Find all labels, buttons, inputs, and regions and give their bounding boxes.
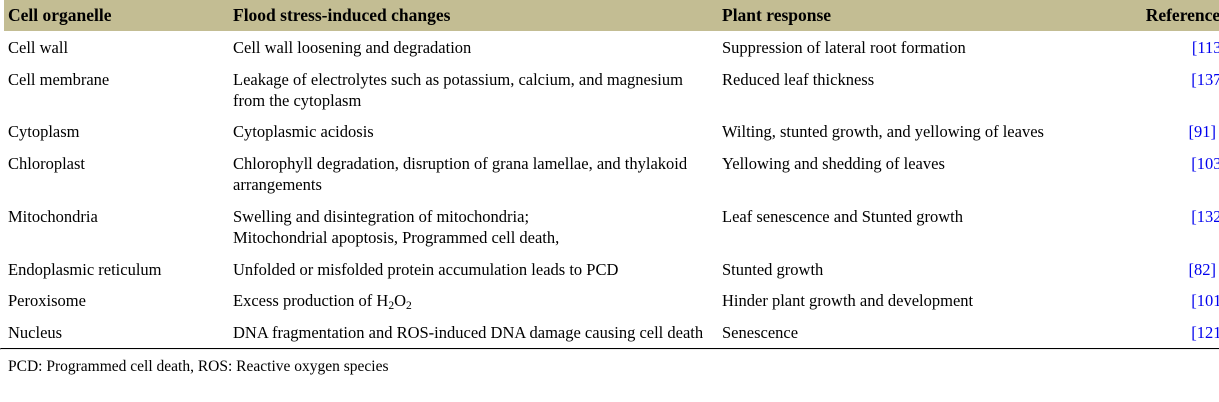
cell-organelle: Nucleus xyxy=(0,317,233,348)
cell-reference[interactable]: [113] xyxy=(1107,31,1219,63)
cell-organelle: Cytoplasm xyxy=(0,116,233,147)
cell-organelle-flood-stress-table: Cell organelle Flood stress-induced chan… xyxy=(0,0,1219,348)
cell-organelle: Chloroplast xyxy=(0,148,233,201)
table-footnote: PCD: Programmed cell death, ROS: Reactiv… xyxy=(0,350,1219,380)
column-header-cell-organelle: Cell organelle xyxy=(0,0,233,31)
cell-organelle: Peroxisome xyxy=(0,285,233,316)
cell-changes: Swelling and disintegration of mitochond… xyxy=(233,201,722,254)
cell-reference[interactable]: [121] xyxy=(1107,317,1219,348)
table-row: Endoplasmic reticulum Unfolded or misfol… xyxy=(0,254,1219,285)
cell-organelle: Mitochondria xyxy=(0,201,233,254)
cell-reference[interactable]: [103] xyxy=(1107,148,1219,201)
cell-reference[interactable]: [101] xyxy=(1107,285,1219,316)
cell-reference[interactable]: [132] xyxy=(1107,201,1219,254)
cell-changes: Cell wall loosening and degradation xyxy=(233,31,722,63)
cell-reference[interactable]: [82] xyxy=(1107,254,1219,285)
cell-response: Suppression of lateral root formation xyxy=(722,31,1107,63)
cell-response: Stunted growth xyxy=(722,254,1107,285)
changes-line-2: Mitochondrial apoptosis, Programmed cell… xyxy=(233,228,559,247)
formula-prefix: Excess production of H xyxy=(233,291,388,310)
changes-line-1: Swelling and disintegration of mitochond… xyxy=(233,207,529,226)
column-header-plant-response: Plant response xyxy=(722,0,1107,31)
cell-organelle: Cell membrane xyxy=(0,64,233,117)
cell-response: Reduced leaf thickness xyxy=(722,64,1107,117)
table-row: Nucleus DNA fragmentation and ROS-induce… xyxy=(0,317,1219,348)
table-row: Cell wall Cell wall loosening and degrad… xyxy=(0,31,1219,63)
cell-response: Yellowing and shedding of leaves xyxy=(722,148,1107,201)
cell-reference[interactable]: [137] xyxy=(1107,64,1219,117)
cell-changes: Unfolded or misfolded protein accumulati… xyxy=(233,254,722,285)
table-row: Cytoplasm Cytoplasmic acidosis Wilting, … xyxy=(0,116,1219,147)
table-header-row: Cell organelle Flood stress-induced chan… xyxy=(0,0,1219,31)
cell-changes: Cytoplasmic acidosis xyxy=(233,116,722,147)
cell-organelle: Endoplasmic reticulum xyxy=(0,254,233,285)
cell-reference[interactable]: [91] xyxy=(1107,116,1219,147)
cell-response: Wilting, stunted growth, and yellowing o… xyxy=(722,116,1107,147)
cell-response: Leaf senescence and Stunted growth xyxy=(722,201,1107,254)
cell-changes: Leakage of electrolytes such as potassiu… xyxy=(233,64,722,117)
cell-changes: DNA fragmentation and ROS-induced DNA da… xyxy=(233,317,722,348)
table-row: Chloroplast Chlorophyll degradation, dis… xyxy=(0,148,1219,201)
formula-mid: O xyxy=(394,291,406,310)
table-header: Cell organelle Flood stress-induced chan… xyxy=(0,0,1219,31)
header-left-notch xyxy=(0,0,4,31)
cell-changes: Excess production of H2O2 xyxy=(233,285,722,316)
cell-changes: Chlorophyll degradation, disruption of g… xyxy=(233,148,722,201)
cell-organelle: Cell wall xyxy=(0,31,233,63)
cell-response: Hinder plant growth and development xyxy=(722,285,1107,316)
table-container: Cell organelle Flood stress-induced chan… xyxy=(0,0,1219,402)
column-header-flood-stress-induced-changes: Flood stress-induced changes xyxy=(233,0,722,31)
table-body: Cell wall Cell wall loosening and degrad… xyxy=(0,31,1219,348)
table-row: Peroxisome Excess production of H2O2 Hin… xyxy=(0,285,1219,316)
table-row: Cell membrane Leakage of electrolytes su… xyxy=(0,64,1219,117)
column-header-references: References xyxy=(1107,0,1219,31)
formula-subscript-2: 2 xyxy=(406,300,412,312)
table-row: Mitochondria Swelling and disintegration… xyxy=(0,201,1219,254)
cell-response: Senescence xyxy=(722,317,1107,348)
